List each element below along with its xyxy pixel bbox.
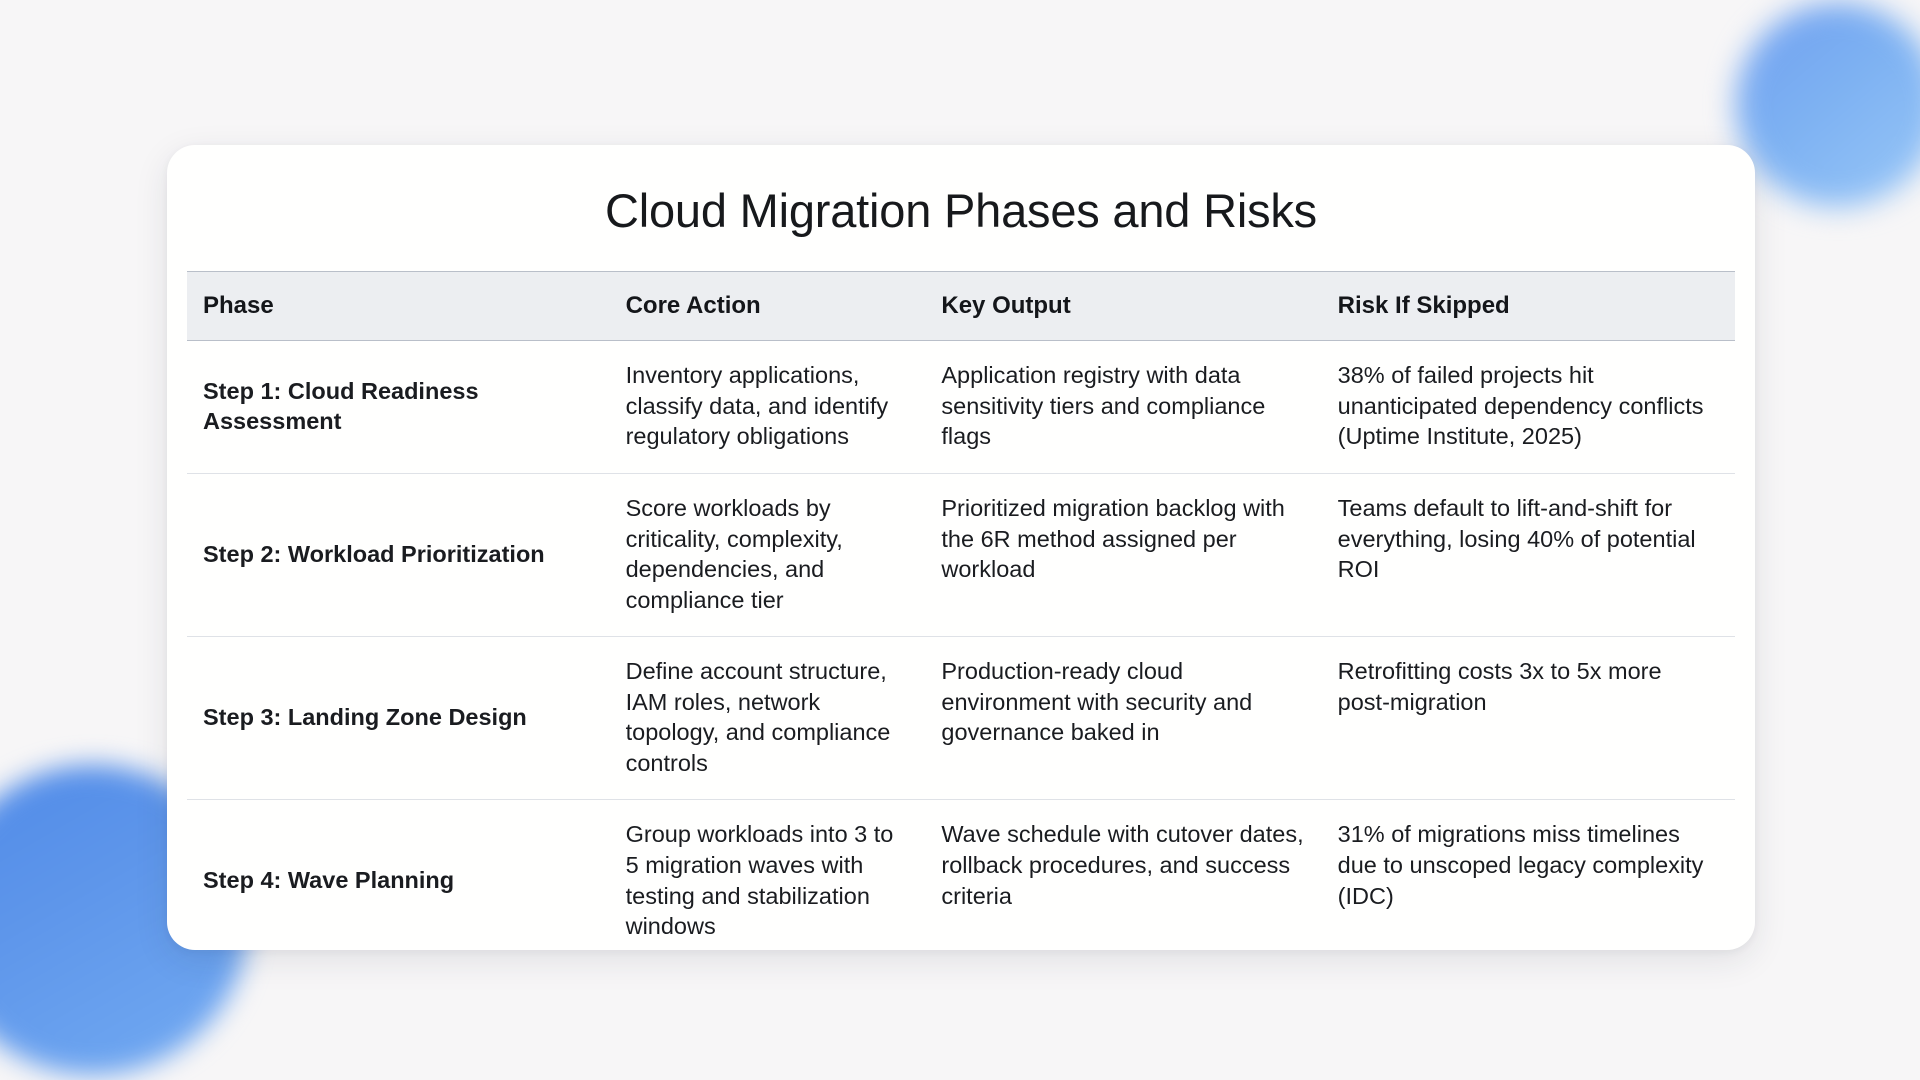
table-row: Step 1: Cloud Readiness Assessment Inven…	[187, 341, 1735, 474]
table-header: Phase Core Action Key Output Risk If Ski…	[187, 272, 1735, 341]
cell-risk-if-skipped: Teams default to lift-and-shift for ever…	[1322, 474, 1735, 637]
column-header-core-action: Core Action	[610, 272, 926, 341]
table-container: Phase Core Action Key Output Risk If Ski…	[167, 271, 1755, 950]
phases-risks-table: Phase Core Action Key Output Risk If Ski…	[187, 271, 1735, 950]
cell-key-output: Application registry with data sensitivi…	[925, 341, 1321, 474]
cell-phase: Step 2: Workload Prioritization	[187, 474, 610, 637]
cell-core-action: Group workloads into 3 to 5 migration wa…	[610, 800, 926, 950]
table-header-row: Phase Core Action Key Output Risk If Ski…	[187, 272, 1735, 341]
table-row: Step 4: Wave Planning Group workloads in…	[187, 800, 1735, 950]
table-body: Step 1: Cloud Readiness Assessment Inven…	[187, 341, 1735, 950]
cell-risk-if-skipped: 38% of failed projects hit unanticipated…	[1322, 341, 1735, 474]
column-header-key-output: Key Output	[925, 272, 1321, 341]
cell-risk-if-skipped: Retrofitting costs 3x to 5x more post-mi…	[1322, 637, 1735, 800]
cell-phase: Step 3: Landing Zone Design	[187, 637, 610, 800]
cell-phase: Step 1: Cloud Readiness Assessment	[187, 341, 610, 474]
column-header-risk-if-skipped: Risk If Skipped	[1322, 272, 1735, 341]
cell-key-output: Prioritized migration backlog with the 6…	[925, 474, 1321, 637]
column-header-phase: Phase	[187, 272, 610, 341]
decorative-blob-top-right	[1736, 3, 1920, 207]
table-row: Step 2: Workload Prioritization Score wo…	[187, 474, 1735, 637]
page-title: Cloud Migration Phases and Risks	[167, 145, 1755, 239]
cell-core-action: Define account structure, IAM roles, net…	[610, 637, 926, 800]
table-row: Step 3: Landing Zone Design Define accou…	[187, 637, 1735, 800]
cell-key-output: Production-ready cloud environment with …	[925, 637, 1321, 800]
cell-risk-if-skipped: 31% of migrations miss timelines due to …	[1322, 800, 1735, 950]
cell-core-action: Score workloads by criticality, complexi…	[610, 474, 926, 637]
content-card: Cloud Migration Phases and Risks Phase C…	[167, 145, 1755, 950]
cell-core-action: Inventory applications, classify data, a…	[610, 341, 926, 474]
cell-key-output: Wave schedule with cutover dates, rollba…	[925, 800, 1321, 950]
cell-phase: Step 4: Wave Planning	[187, 800, 610, 950]
